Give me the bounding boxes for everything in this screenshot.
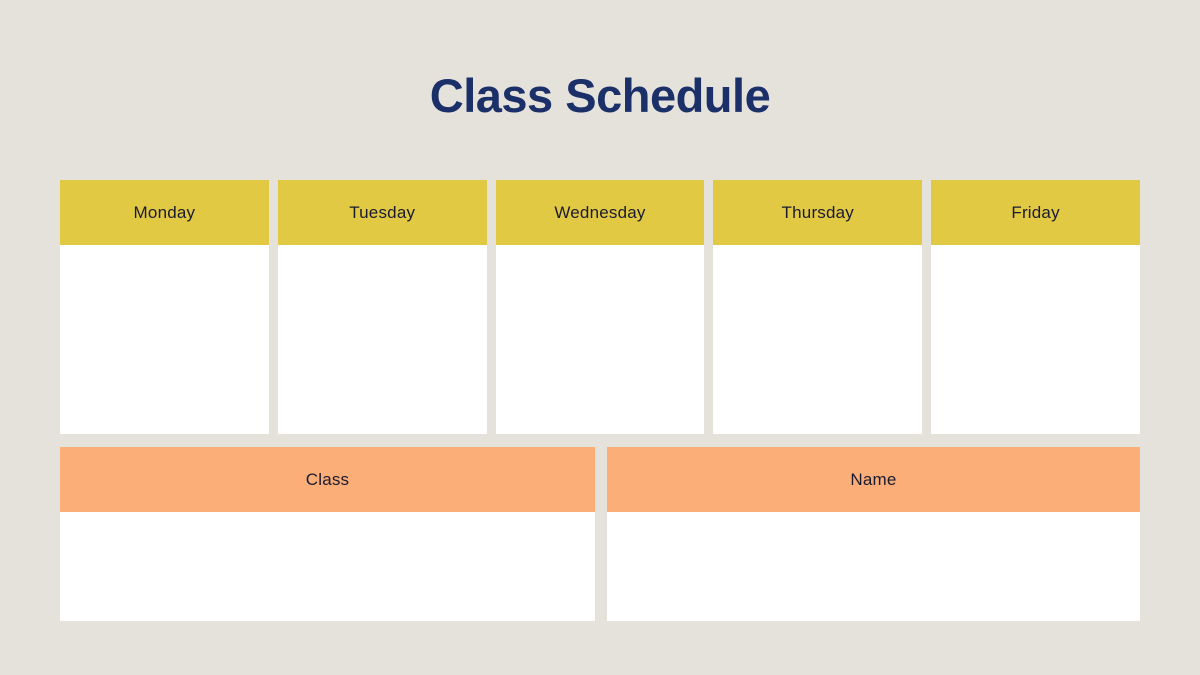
header-class[interactable]: Class	[60, 447, 595, 512]
day-body-tuesday[interactable]	[278, 245, 487, 434]
slide-canvas: Class Schedule Monday Tuesday Wednesday …	[0, 0, 1200, 675]
day-body-thursday[interactable]	[713, 245, 922, 434]
column-name: Name	[607, 447, 1140, 621]
day-header-friday[interactable]: Friday	[931, 180, 1140, 245]
page-title: Class Schedule	[0, 66, 1200, 126]
day-column-thursday: Thursday	[713, 180, 922, 434]
header-name[interactable]: Name	[607, 447, 1140, 512]
day-body-monday[interactable]	[60, 245, 269, 434]
class-name-table: Class Name	[60, 447, 1140, 621]
body-name[interactable]	[607, 512, 1140, 621]
day-body-friday[interactable]	[931, 245, 1140, 434]
body-class[interactable]	[60, 512, 595, 621]
day-header-wednesday[interactable]: Wednesday	[496, 180, 705, 245]
day-header-monday[interactable]: Monday	[60, 180, 269, 245]
column-class: Class	[60, 447, 595, 621]
day-body-wednesday[interactable]	[496, 245, 705, 434]
day-column-friday: Friday	[931, 180, 1140, 434]
day-header-tuesday[interactable]: Tuesday	[278, 180, 487, 245]
day-column-tuesday: Tuesday	[278, 180, 487, 434]
day-column-wednesday: Wednesday	[496, 180, 705, 434]
day-column-monday: Monday	[60, 180, 269, 434]
weekday-schedule-table: Monday Tuesday Wednesday Thursday Friday	[60, 180, 1140, 434]
day-header-thursday[interactable]: Thursday	[713, 180, 922, 245]
